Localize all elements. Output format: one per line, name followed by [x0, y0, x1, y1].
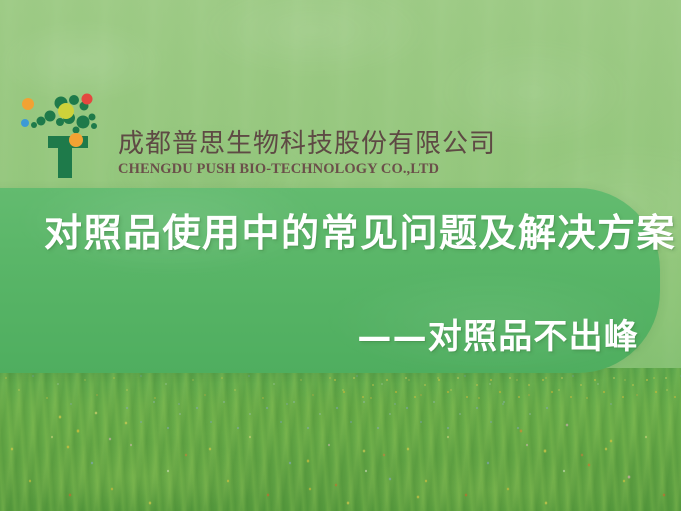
presentation-slide: 成都普思生物科技股份有限公司 CHENGDU PUSH BIO-TECHNOLO…: [0, 0, 681, 511]
company-name-en: CHENGDU PUSH BIO-TECHNOLOGY CO.,LTD: [118, 162, 496, 177]
flower-clump-left: [44, 403, 164, 469]
flower-clump-center: [290, 435, 450, 507]
company-logo-block: 成都普思生物科技股份有限公司 CHENGDU PUSH BIO-TECHNOLO…: [14, 92, 496, 180]
flower-clump-right: [501, 411, 651, 495]
push-bio-tree-logo-icon: [14, 92, 114, 180]
flower-meadow: [0, 368, 681, 511]
slide-title: 对照品使用中的常见问题及解决方案: [44, 202, 676, 257]
company-name-block: 成都普思生物科技股份有限公司 CHENGDU PUSH BIO-TECHNOLO…: [118, 131, 496, 177]
slide-subtitle: ——对照品不出峰: [357, 309, 639, 358]
company-name-cn: 成都普思生物科技股份有限公司: [118, 131, 496, 157]
